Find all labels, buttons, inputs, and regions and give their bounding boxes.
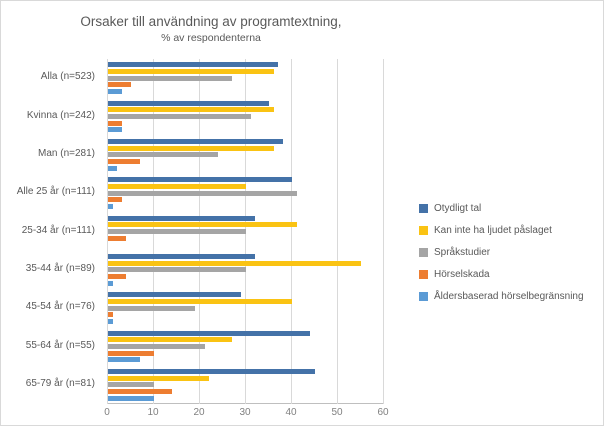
legend-label: Åldersbaserad hörselbegränsning	[434, 291, 584, 302]
bar[interactable]	[108, 267, 246, 272]
x-tick-label: 30	[239, 407, 250, 418]
y-axis-category-label: 25-34 år (n=111)	[22, 225, 95, 236]
bar[interactable]	[108, 159, 140, 164]
bar[interactable]	[108, 236, 126, 241]
y-axis-category-label: Kvinna (n=242)	[27, 110, 95, 121]
bar[interactable]	[108, 389, 172, 394]
bar[interactable]	[108, 292, 241, 297]
legend-label: Hörselskada	[434, 269, 490, 280]
y-axis-category-label: Alla (n=523)	[41, 71, 95, 82]
chart-subtitle: % av respondenterna	[1, 31, 421, 46]
bar[interactable]	[108, 281, 113, 286]
bar[interactable]	[108, 184, 246, 189]
bar[interactable]	[108, 376, 209, 381]
legend-label: Kan inte ha ljudet påslaget	[434, 225, 552, 236]
y-axis-category-label: 45-54 år (n=76)	[26, 301, 95, 312]
legend-item[interactable]: Hörselskada	[419, 263, 599, 285]
bar[interactable]	[108, 261, 361, 266]
legend-swatch-icon	[419, 204, 428, 213]
bar[interactable]	[108, 396, 154, 401]
gridline-60	[383, 59, 384, 404]
bar[interactable]	[108, 121, 122, 126]
bar[interactable]	[108, 69, 274, 74]
bar[interactable]	[108, 337, 232, 342]
y-axis-category-label: Alle 25 år (n=111)	[17, 186, 95, 197]
x-tick-label: 10	[147, 407, 158, 418]
bar-group	[108, 136, 383, 174]
bar[interactable]	[108, 146, 274, 151]
y-axis-category-label: 65-79 år (n=81)	[26, 378, 95, 389]
chart-title-block: Orsaker till användning av programtextni…	[1, 13, 421, 46]
legend-swatch-icon	[419, 226, 428, 235]
bar[interactable]	[108, 152, 218, 157]
x-tick-label: 0	[104, 407, 110, 418]
bar-group	[108, 289, 383, 327]
bar-group	[108, 174, 383, 212]
y-axis-category-label: 55-64 år (n=55)	[26, 340, 95, 351]
bar-group	[108, 212, 383, 250]
bar[interactable]	[108, 62, 278, 67]
bar-group	[108, 59, 383, 97]
chart-container: Orsaker till användning av programtextni…	[0, 0, 604, 426]
bar[interactable]	[108, 191, 297, 196]
bar[interactable]	[108, 299, 292, 304]
bar[interactable]	[108, 369, 315, 374]
bar[interactable]	[108, 344, 205, 349]
legend-swatch-icon	[419, 248, 428, 257]
x-tick-label: 60	[377, 407, 388, 418]
bar[interactable]	[108, 382, 154, 387]
bar[interactable]	[108, 107, 274, 112]
bar[interactable]	[108, 89, 122, 94]
bar[interactable]	[108, 222, 297, 227]
y-axis-category-label: 35-44 år (n=89)	[26, 263, 95, 274]
bar[interactable]	[108, 312, 113, 317]
x-tick-label: 20	[193, 407, 204, 418]
y-axis-labels: Alla (n=523)Kvinna (n=242)Man (n=281)All…	[1, 59, 101, 404]
bar[interactable]	[108, 216, 255, 221]
bar-group	[108, 97, 383, 135]
bar[interactable]	[108, 351, 154, 356]
legend-item[interactable]: Åldersbaserad hörselbegränsning	[419, 285, 599, 307]
legend-item[interactable]: Språkstudier	[419, 241, 599, 263]
bar-group	[108, 327, 383, 365]
legend-swatch-icon	[419, 270, 428, 279]
bar[interactable]	[108, 274, 126, 279]
legend-item[interactable]: Otydligt tal	[419, 197, 599, 219]
plot-area: 0102030405060	[107, 59, 383, 404]
x-tick-label: 40	[285, 407, 296, 418]
bar[interactable]	[108, 204, 113, 209]
bar[interactable]	[108, 166, 117, 171]
chart-legend: Otydligt talKan inte ha ljudet påslagetS…	[419, 197, 599, 307]
bar[interactable]	[108, 127, 122, 132]
bar[interactable]	[108, 331, 310, 336]
bar[interactable]	[108, 82, 131, 87]
x-tick-label: 50	[331, 407, 342, 418]
bar[interactable]	[108, 76, 232, 81]
legend-swatch-icon	[419, 292, 428, 301]
bar[interactable]	[108, 101, 269, 106]
bar-group	[108, 366, 383, 404]
bar[interactable]	[108, 197, 122, 202]
bar[interactable]	[108, 139, 283, 144]
bar[interactable]	[108, 319, 113, 324]
legend-item[interactable]: Kan inte ha ljudet påslaget	[419, 219, 599, 241]
bar[interactable]	[108, 254, 255, 259]
legend-label: Språkstudier	[434, 247, 490, 258]
chart-title: Orsaker till användning av programtextni…	[1, 13, 421, 31]
bar[interactable]	[108, 306, 195, 311]
bar[interactable]	[108, 357, 140, 362]
legend-label: Otydligt tal	[434, 203, 481, 214]
bar[interactable]	[108, 114, 251, 119]
bar[interactable]	[108, 229, 246, 234]
y-axis-category-label: Man (n=281)	[38, 148, 95, 159]
bar-group	[108, 251, 383, 289]
bar[interactable]	[108, 177, 292, 182]
